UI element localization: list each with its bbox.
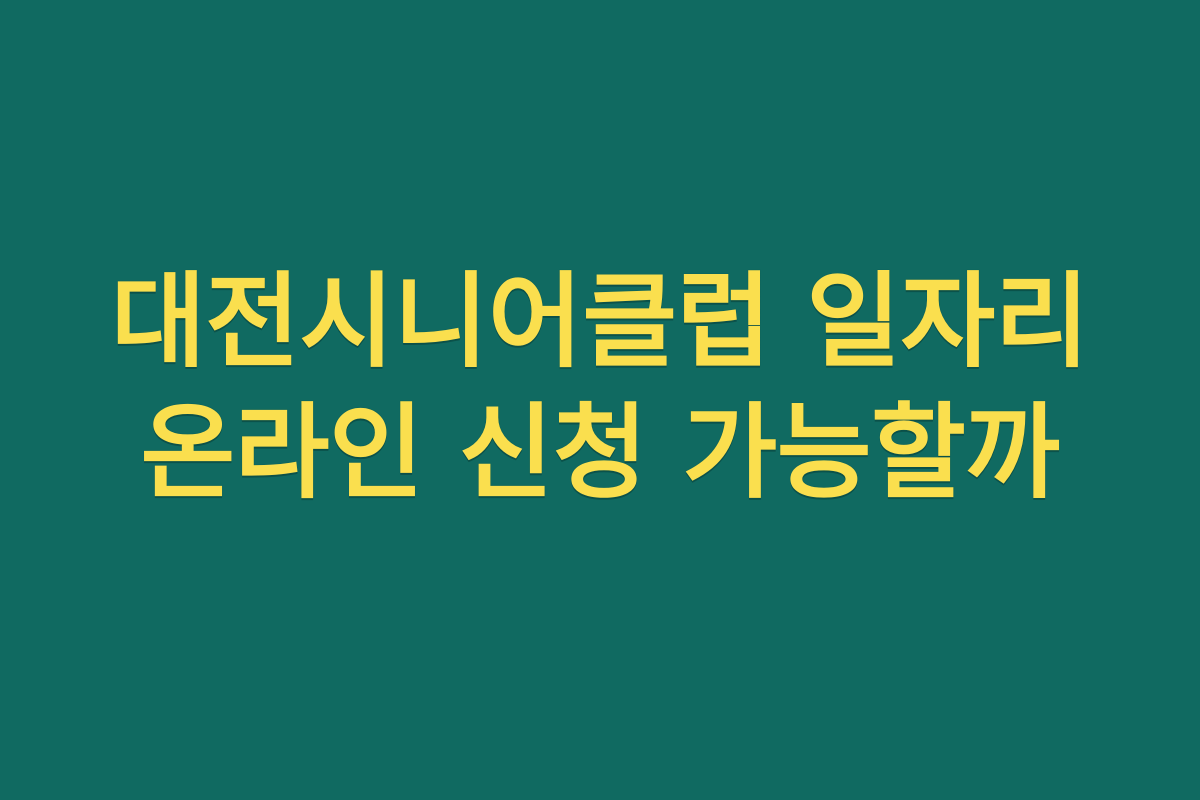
headline-line-2: 온라인 신청 가능할까	[40, 388, 1160, 519]
headline-line-1: 대전시니어클럽 일자리	[40, 257, 1160, 388]
headline-text-block: 대전시니어클럽 일자리 온라인 신청 가능할까	[0, 257, 1200, 519]
thumbnail-canvas: 대전시니어클럽 일자리 온라인 신청 가능할까	[0, 0, 1200, 800]
